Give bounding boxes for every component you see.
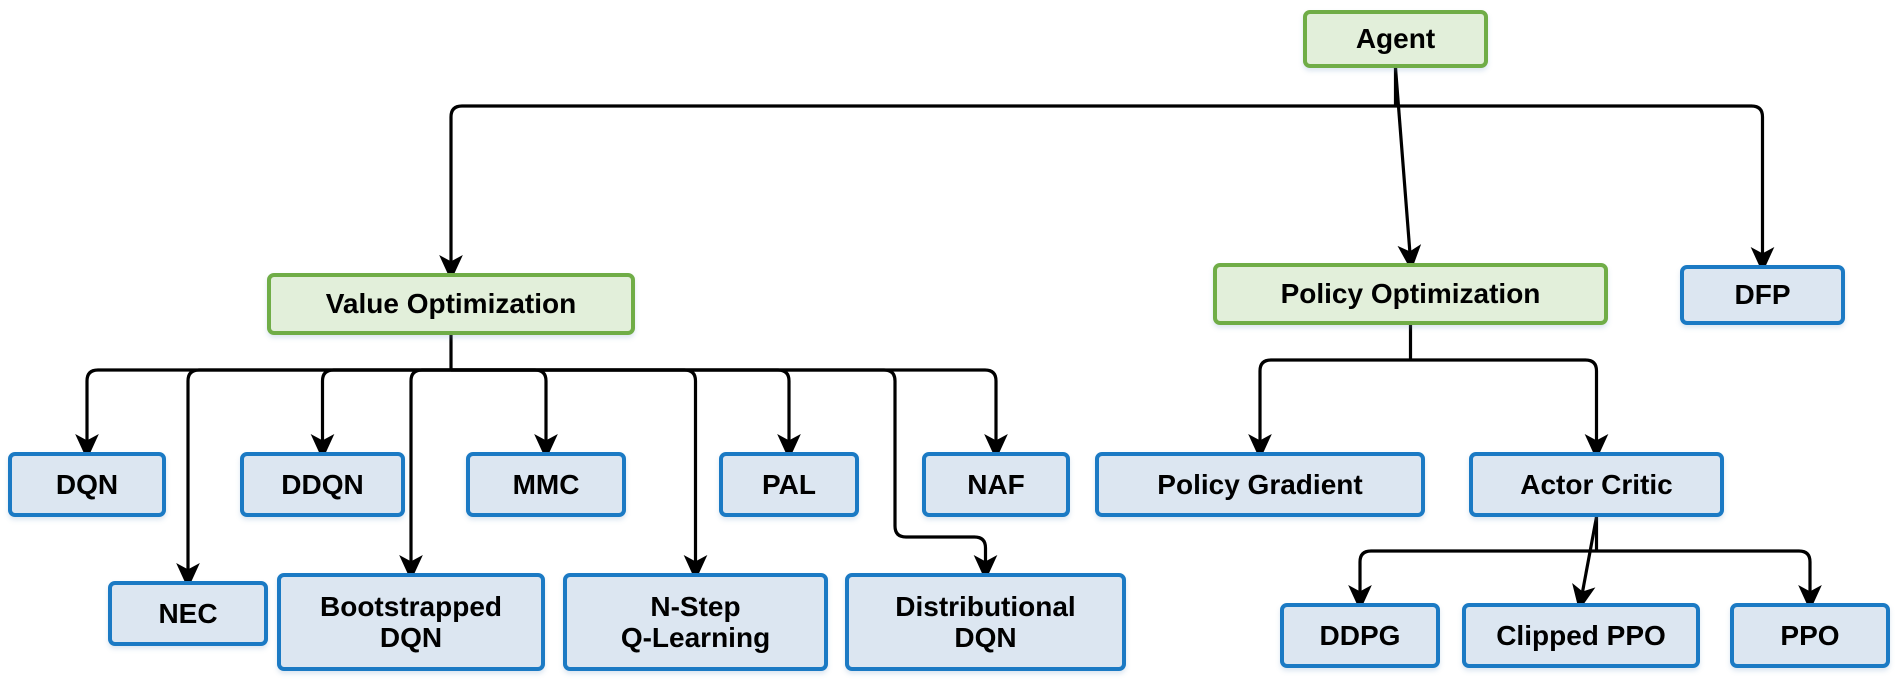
node-agent[interactable]: Agent [1303,10,1488,68]
node-label: DQN [50,469,124,500]
node-label: Agent [1350,23,1441,54]
node-label: DFP [1729,279,1797,310]
node-label: PPO [1774,620,1845,651]
edge-path [87,370,451,449]
edge-path [1581,517,1597,600]
node-clipped_ppo[interactable]: Clipped PPO [1462,603,1700,668]
node-label: N-Step Q-Learning [615,591,776,654]
node-label: Actor Critic [1514,469,1678,500]
node-nec[interactable]: NEC [108,581,268,646]
node-label: DDQN [275,469,369,500]
node-naf[interactable]: NAF [922,452,1070,517]
edge-path [451,370,546,449]
edge-path [1260,360,1411,449]
edge-path [1396,106,1763,262]
node-dfp[interactable]: DFP [1680,265,1845,325]
node-label: Distributional DQN [889,591,1081,654]
node-ddpg[interactable]: DDPG [1280,603,1440,668]
node-mmc[interactable]: MMC [466,452,626,517]
node-bootstrapped_dqn[interactable]: Bootstrapped DQN [277,573,545,671]
node-label: Policy Gradient [1151,469,1368,500]
node-label: NAF [961,469,1031,500]
edge-path [1360,551,1597,600]
node-label: Clipped PPO [1490,620,1672,651]
edge-path [1396,68,1411,260]
node-label: PAL [756,469,822,500]
diagram-canvas: AgentValue OptimizationPolicy Optimizati… [0,0,1900,700]
node-policy_opt[interactable]: Policy Optimization [1213,263,1608,325]
node-label: MMC [507,469,586,500]
node-label: NEC [152,598,223,629]
node-ppo[interactable]: PPO [1730,603,1890,668]
edge-path [1597,551,1811,600]
node-actor_critic[interactable]: Actor Critic [1469,452,1724,517]
edge-path [411,370,451,570]
node-pal[interactable]: PAL [719,452,859,517]
node-label: DDPG [1314,620,1407,651]
node-policy_gradient[interactable]: Policy Gradient [1095,452,1425,517]
node-label: Value Optimization [320,288,582,319]
edge-path [451,370,789,449]
edge-path [451,106,1396,270]
node-dqn[interactable]: DQN [8,452,166,517]
node-label: Bootstrapped DQN [314,591,508,654]
edge-path [451,370,996,449]
node-nstep_q[interactable]: N-Step Q-Learning [563,573,828,671]
node-ddqn[interactable]: DDQN [240,452,405,517]
node-value_opt[interactable]: Value Optimization [267,273,635,335]
node-label: Policy Optimization [1275,278,1547,309]
edge-path [1411,360,1597,449]
node-distributional[interactable]: Distributional DQN [845,573,1126,671]
edge-path [323,370,452,449]
